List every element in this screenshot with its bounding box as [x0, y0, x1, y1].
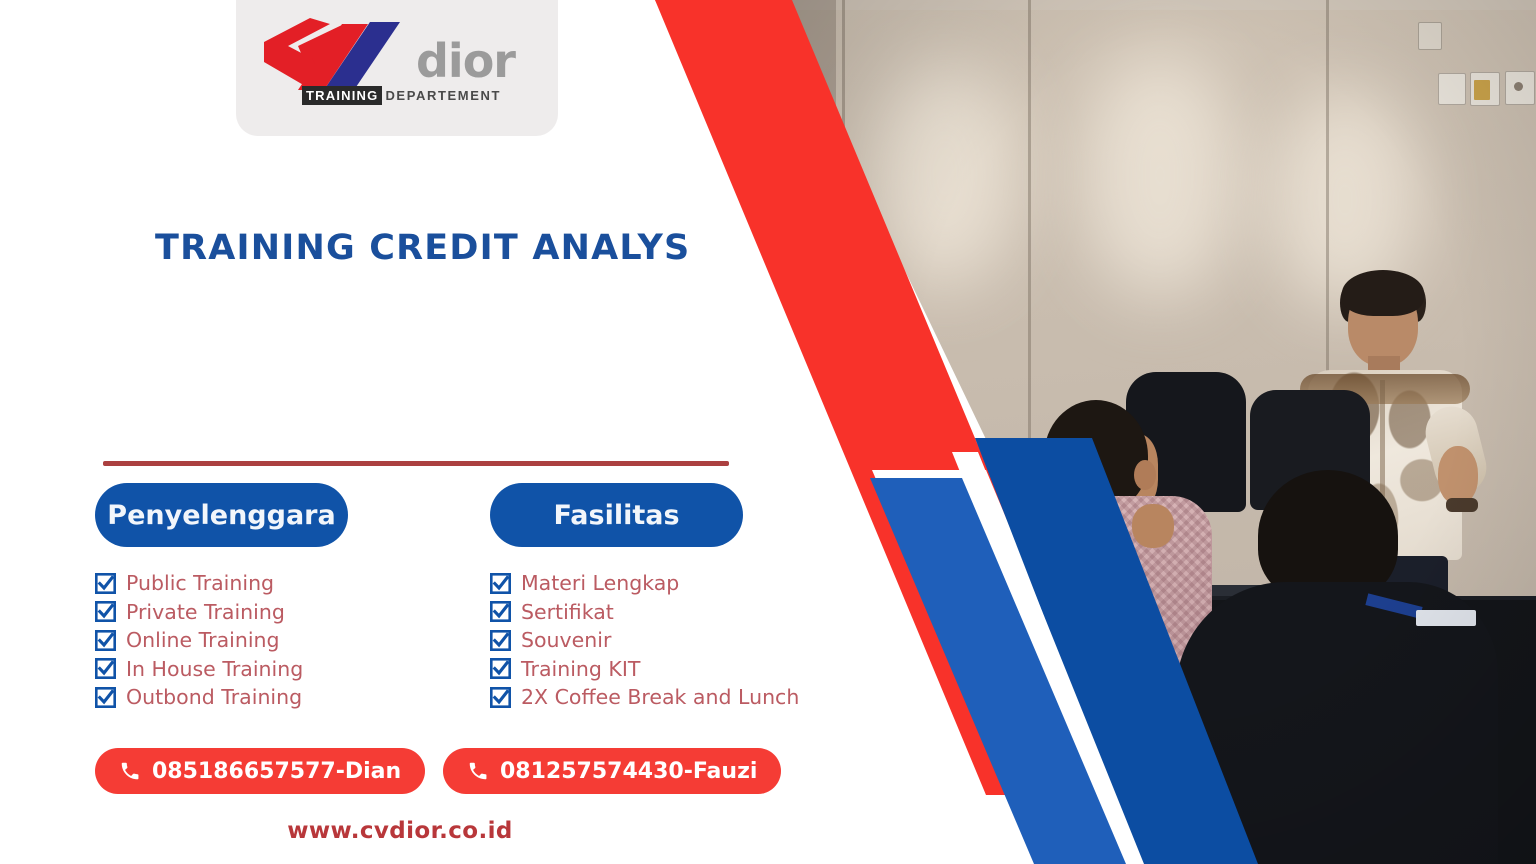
checkbox-checked-icon: [95, 658, 116, 679]
contact-label: 081257574430-Fauzi: [500, 759, 757, 784]
phone-icon: [467, 760, 489, 782]
wine-glass-foot: [1008, 662, 1044, 669]
list-item-label: 2X Coffee Break and Lunch: [521, 685, 799, 709]
list-item-label: Outbond Training: [126, 685, 302, 709]
list-item-label: Sertifikat: [521, 600, 614, 624]
column-penyelenggara: Penyelenggara Public Training Private Tr…: [95, 483, 348, 712]
red-notebook: [946, 668, 1056, 686]
checkbox-checked-icon: [490, 687, 511, 708]
list-item: Souvenir: [490, 626, 799, 655]
checkbox-checked-icon: [490, 658, 511, 679]
phone-icon: [119, 760, 141, 782]
water-bottle: [970, 540, 994, 636]
water-bottle-label: [970, 578, 994, 604]
wine-glass-stem: [1023, 640, 1028, 664]
list-item-label: Materi Lengkap: [521, 571, 679, 595]
page-title: TRAINING CREDIT ANALYS: [155, 228, 690, 268]
logo-wordmark: dior: [416, 34, 515, 88]
logo-tag-departement: DEPARTEMENT: [385, 88, 501, 103]
checkbox-checked-icon: [490, 601, 511, 622]
contact-button-fauzi[interactable]: 081257574430-Fauzi: [443, 748, 781, 794]
checkbox-checked-icon: [490, 573, 511, 594]
list-item-label: In House Training: [126, 657, 303, 681]
section-divider: [103, 461, 729, 466]
logo-panel: dior TRAINING DEPARTEMENT: [236, 0, 558, 136]
list-item: Online Training: [95, 626, 348, 655]
list-item: In House Training: [95, 655, 348, 684]
checkbox-checked-icon: [95, 573, 116, 594]
list-item-label: Online Training: [126, 628, 280, 652]
water-bottle-cap: [971, 534, 993, 546]
list-item: Private Training: [95, 598, 348, 627]
list-item-label: Souvenir: [521, 628, 611, 652]
heading-fasilitas: Fasilitas: [490, 483, 743, 547]
list-fasilitas: Materi Lengkap Sertifikat Souvenir Train…: [490, 569, 799, 712]
wine-glass: [1006, 600, 1048, 644]
list-item: Public Training: [95, 569, 348, 598]
list-item: 2X Coffee Break and Lunch: [490, 683, 799, 712]
poster-canvas: dior TRAINING DEPARTEMENT TRAINING CREDI…: [0, 0, 1536, 864]
list-penyelenggara: Public Training Private Training Online …: [95, 569, 348, 712]
checkbox-checked-icon: [95, 601, 116, 622]
contact-label: 085186657577-Dian: [152, 759, 401, 784]
list-item-label: Training KIT: [521, 657, 640, 681]
list-item: Training KIT: [490, 655, 799, 684]
checkbox-checked-icon: [95, 687, 116, 708]
photo-vignette: [770, 0, 1536, 864]
list-item: Outbond Training: [95, 683, 348, 712]
list-item-label: Public Training: [126, 571, 274, 595]
list-item-label: Private Training: [126, 600, 285, 624]
laptop-wallpaper: [856, 566, 974, 648]
cv-chevron-logo-icon: [258, 16, 428, 94]
list-item: Materi Lengkap: [490, 569, 799, 598]
column-fasilitas: Fasilitas Materi Lengkap Sertifikat Souv…: [490, 483, 799, 712]
logo-tag-training: TRAINING: [302, 86, 382, 105]
list-item: Sertifikat: [490, 598, 799, 627]
contact-button-dian[interactable]: 085186657577-Dian: [95, 748, 425, 794]
checkbox-checked-icon: [95, 630, 116, 651]
laptop-base: [846, 652, 988, 662]
checkbox-checked-icon: [490, 630, 511, 651]
photo-region: [0, 0, 1536, 864]
heading-penyelenggara: Penyelenggara: [95, 483, 348, 547]
logo-tagline: TRAINING DEPARTEMENT: [302, 86, 501, 105]
laptop-screen: [850, 560, 984, 658]
website-url[interactable]: www.cvdior.co.id: [0, 818, 800, 844]
training-room-photo: [770, 0, 1536, 864]
